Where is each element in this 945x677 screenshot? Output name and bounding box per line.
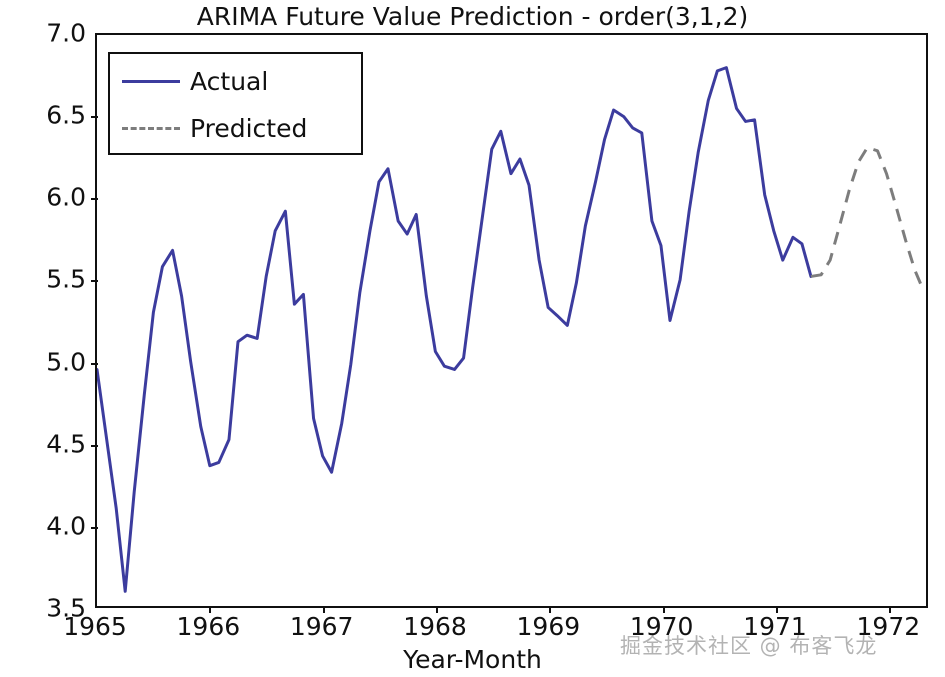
x-tick-label: 1965 [35, 612, 155, 641]
y-tick-mark [91, 527, 98, 529]
legend-swatch-predicted-icon [122, 118, 180, 138]
y-tick-mark [91, 116, 98, 118]
legend-entry-actual: Actual [110, 57, 361, 105]
y-tick-mark [91, 198, 98, 200]
legend-label-actual: Actual [190, 67, 268, 96]
y-tick-label: 5.5 [6, 265, 86, 294]
legend-entry-predicted: Predicted [110, 104, 361, 152]
chart-legend: Actual Predicted [108, 52, 363, 155]
y-tick-label: 4.0 [6, 511, 86, 540]
chart-title: ARIMA Future Value Prediction - order(3,… [0, 2, 945, 31]
chart-figure: ARIMA Future Value Prediction - order(3,… [0, 0, 945, 677]
x-tick-label: 1968 [375, 612, 495, 641]
y-tick-mark [91, 445, 98, 447]
y-tick-label: 5.0 [6, 347, 86, 376]
x-tick-label: 1967 [262, 612, 382, 641]
legend-label-predicted: Predicted [190, 114, 307, 143]
legend-swatch-actual-icon [122, 71, 180, 91]
x-tick-label: 1972 [828, 612, 945, 641]
y-tick-label: 4.5 [6, 429, 86, 458]
y-tick-mark [91, 280, 98, 282]
series-line-predicted [811, 148, 924, 292]
x-tick-label: 1966 [148, 612, 268, 641]
x-tick-label: 1969 [488, 612, 608, 641]
x-tick-label: 1971 [715, 612, 835, 641]
y-tick-label: 6.5 [6, 101, 86, 130]
y-tick-mark [91, 363, 98, 365]
y-tick-label: 7.0 [6, 19, 86, 48]
y-axis-tick-labels: 3.54.04.55.05.56.06.57.0 [0, 0, 86, 677]
y-tick-label: 6.0 [6, 183, 86, 212]
x-tick-label: 1970 [602, 612, 722, 641]
